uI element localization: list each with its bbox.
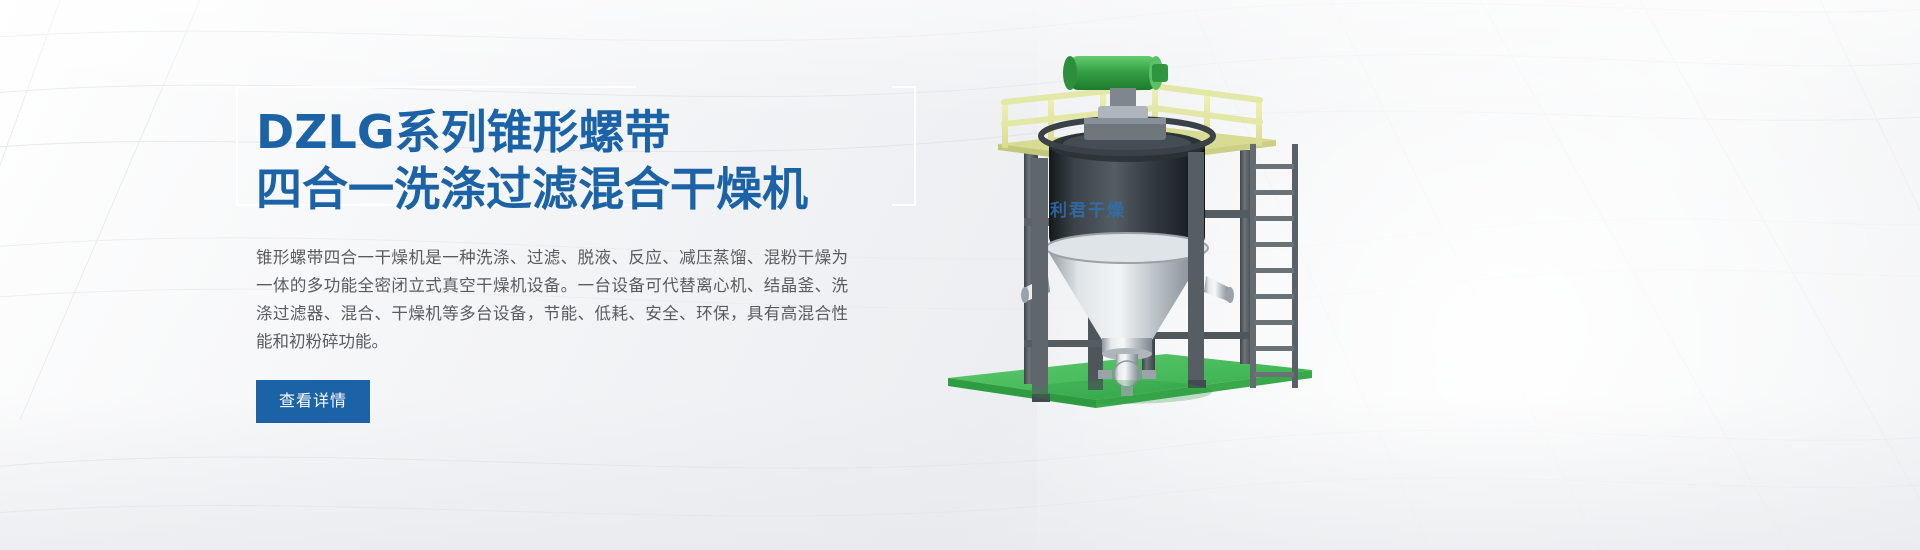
gearbox-housing [1084, 118, 1166, 140]
product-description: 锥形螺带四合一干燥机是一种洗涤、过滤、脱液、反应、减压蒸馏、混粉干燥为一体的多功… [256, 244, 848, 356]
hero-text-block: DZLG系列锥形螺带 四合一洗涤过滤混合干燥机 锥形螺带四合一干燥机是一种洗涤、… [256, 86, 876, 423]
view-details-button[interactable]: 查看详情 [256, 380, 370, 423]
product-hero-banner: DZLG系列锥形螺带 四合一洗涤过滤混合干燥机 锥形螺带四合一干燥机是一种洗涤、… [0, 0, 1920, 550]
access-ladder [1250, 144, 1298, 388]
title-line-1: DZLG系列锥形螺带 [256, 104, 876, 161]
floor-shadow [1028, 380, 1212, 404]
title-line-2: 四合一洗涤过滤混合干燥机 [256, 161, 876, 218]
title-frame-right-decoration [892, 86, 916, 206]
product-illustration [920, 40, 1340, 440]
page-title: DZLG系列锥形螺带 四合一洗涤过滤混合干燥机 [256, 86, 876, 218]
